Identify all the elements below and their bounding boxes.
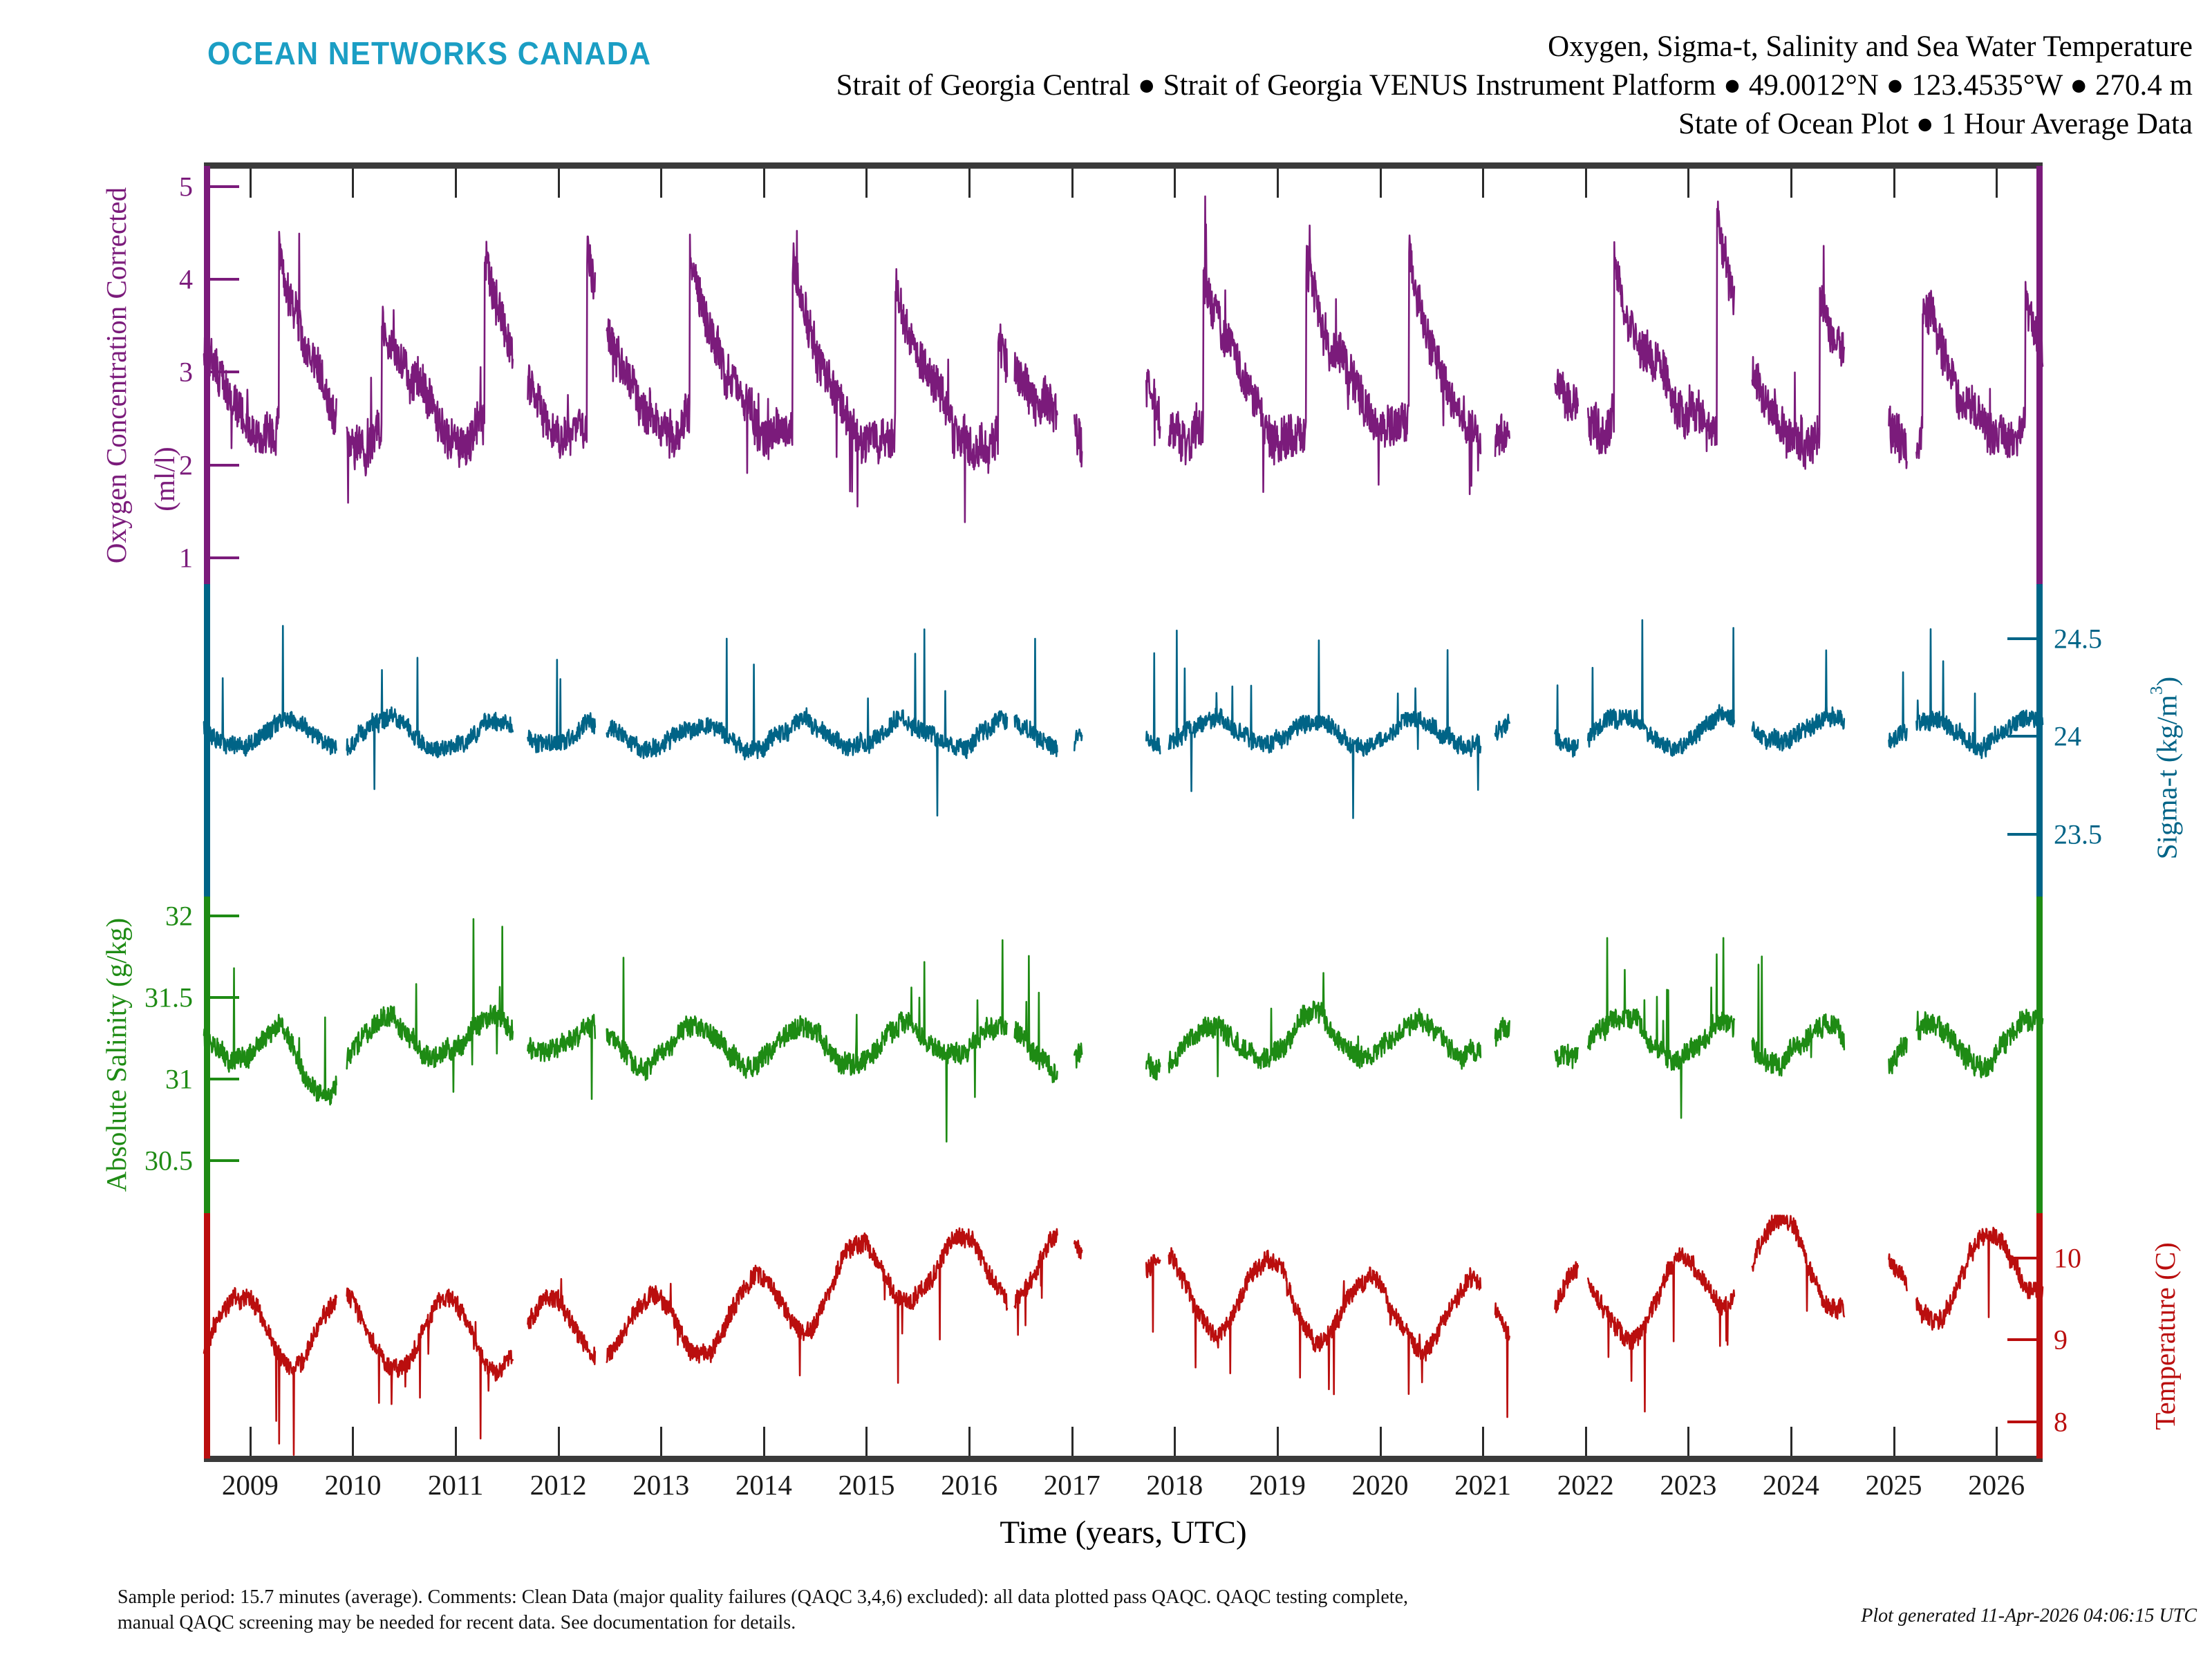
y-axis-label-salinity-31.5: 31.5 (144, 982, 193, 1014)
axis-title-temperature: Temperature (C) (2148, 1242, 2182, 1430)
axis-title-salinity: Absolute Salinity (g/kg) (100, 918, 133, 1192)
x-axis-label-2021: 2021 (1454, 1468, 1511, 1501)
series-oxygen (204, 196, 2043, 522)
y-axis-label-oxygen-3: 3 (179, 356, 193, 388)
x-axis-label-2013: 2013 (632, 1468, 689, 1501)
series-temperature (204, 1216, 2043, 1455)
timeseries-plot-area (204, 162, 2043, 1462)
x-axis-label-2025: 2025 (1866, 1468, 1922, 1501)
series-sigma_t (204, 620, 2043, 818)
x-axis-label-2026: 2026 (1968, 1468, 2025, 1501)
y-axis-label-sigma_t-24.5: 24.5 (2054, 623, 2102, 655)
series-canvas (204, 162, 2043, 1462)
x-axis-label-2009: 2009 (222, 1468, 279, 1501)
x-axis-label-2024: 2024 (1763, 1468, 1819, 1501)
y-axis-label-oxygen-5: 5 (179, 170, 193, 203)
y-axis-label-salinity-31: 31 (165, 1063, 193, 1096)
y-axis-label-oxygen-4: 4 (179, 263, 193, 296)
y-axis-label-salinity-32: 32 (165, 900, 193, 932)
generated-timestamp: Plot generated 11-Apr-2026 04:06:15 UTC (1861, 1605, 2197, 1627)
footer-line-1: Sample period: 15.7 minutes (average). C… (118, 1585, 1408, 1611)
title-line-2: Strait of Georgia Central ● Strait of Ge… (836, 66, 2193, 105)
y-axis-label-sigma_t-23.5: 23.5 (2054, 818, 2102, 850)
x-axis-label-2014: 2014 (735, 1468, 792, 1501)
x-axis-label-2015: 2015 (838, 1468, 894, 1501)
brand-logo: OCEAN NETWORKS CANADA (207, 35, 651, 72)
x-axis-label-2011: 2011 (428, 1468, 483, 1501)
x-axis-label-2020: 2020 (1352, 1468, 1409, 1501)
y-axis-label-oxygen-1: 1 (179, 542, 193, 574)
x-axis-label-2010: 2010 (324, 1468, 381, 1501)
x-axis-label-2016: 2016 (941, 1468, 997, 1501)
x-axis-title: Time (years, UTC) (1000, 1514, 1246, 1551)
axis-title-oxygen: Oxygen Concentration Corrected (100, 187, 133, 563)
y-axis-label-salinity-30.5: 30.5 (144, 1145, 193, 1177)
footer-line-2: manual QAQC screening may be needed for … (118, 1611, 1408, 1636)
title-line-1: Oxygen, Sigma-t, Salinity and Sea Water … (836, 28, 2193, 66)
x-axis-label-2017: 2017 (1044, 1468, 1100, 1501)
axis-title-oxygen-units: (ml/l) (148, 447, 181, 511)
x-axis-label-2023: 2023 (1660, 1468, 1716, 1501)
footer-notes: Sample period: 15.7 minutes (average). C… (118, 1585, 1408, 1636)
plot-title-block: Oxygen, Sigma-t, Salinity and Sea Water … (836, 28, 2193, 144)
x-axis-label-2022: 2022 (1557, 1468, 1614, 1501)
x-axis-label-2018: 2018 (1146, 1468, 1203, 1501)
x-axis-label-2012: 2012 (530, 1468, 587, 1501)
y-axis-label-oxygen-2: 2 (179, 449, 193, 481)
x-axis-label-2019: 2019 (1249, 1468, 1306, 1501)
y-axis-label-sigma_t-24: 24 (2054, 720, 2081, 753)
title-line-3: State of Ocean Plot ● 1 Hour Average Dat… (836, 105, 2193, 144)
series-salinity (204, 919, 2043, 1142)
y-axis-label-temperature-10: 10 (2054, 1242, 2081, 1275)
y-axis-label-temperature-8: 8 (2054, 1405, 2068, 1438)
axis-title-sigma_t: Sigma-t (kg/m3) (2147, 677, 2184, 859)
y-axis-label-temperature-9: 9 (2054, 1324, 2068, 1356)
